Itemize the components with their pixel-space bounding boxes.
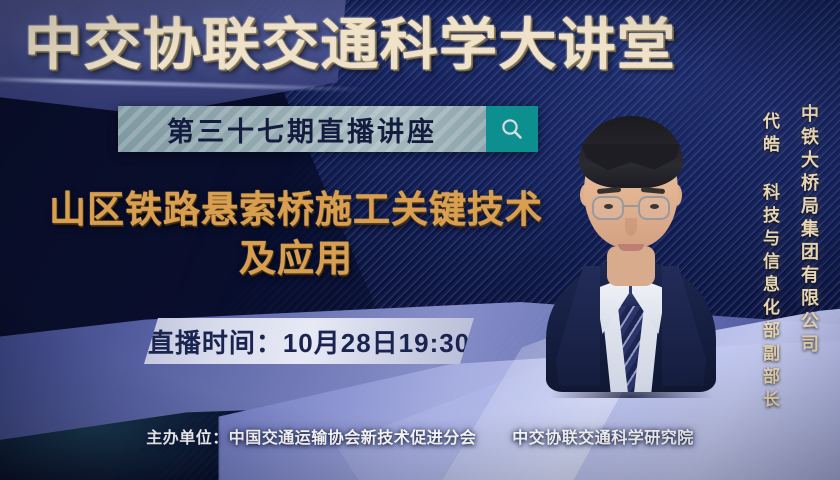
broadcast-time-plate: 直播时间：10月28日19:30 bbox=[144, 318, 474, 364]
webinar-poster: 中交协联交通科学大讲堂 第三十七期直播讲座 山区铁路悬索桥施工关键技术 及应用 … bbox=[0, 0, 840, 480]
portrait-neck bbox=[607, 246, 655, 286]
organizer-primary: 主办单位：中国交通运输协会新技术促进分会 bbox=[146, 430, 476, 447]
broadcast-time-label: 直播时间：10月28日19:30 bbox=[148, 323, 470, 360]
portrait-nose bbox=[625, 218, 637, 236]
episode-banner: 第三十七期直播讲座 bbox=[118, 106, 538, 152]
search-icon bbox=[499, 116, 525, 142]
episode-label: 第三十七期直播讲座 bbox=[167, 110, 437, 149]
lecture-title: 山区铁路悬索桥施工关键技术 及应用 bbox=[36, 186, 556, 284]
organizer-footer: 主办单位：中国交通运输协会新技术促进分会 中交协联交通科学研究院 bbox=[0, 424, 840, 448]
page-title: 中交协联交通科学大讲堂 bbox=[0, 16, 714, 75]
portrait-glasses-right-lens bbox=[638, 196, 670, 220]
portrait-glasses-bridge bbox=[624, 205, 638, 207]
search-button[interactable] bbox=[486, 106, 538, 152]
episode-banner-body: 第三十七期直播讲座 bbox=[118, 106, 486, 152]
lecture-title-line1: 山区铁路悬索桥施工关键技术 bbox=[49, 189, 543, 230]
lecture-title-line2: 及应用 bbox=[36, 235, 556, 284]
organizer-secondary: 中交协联交通科学研究院 bbox=[512, 430, 694, 447]
portrait-glasses-left-lens bbox=[592, 196, 624, 220]
speaker-organization: 中铁大桥局集团有限公司 bbox=[796, 104, 822, 357]
speaker-name-role: 代皓 科技与信息化部副部长 bbox=[757, 112, 782, 413]
portrait-mouth bbox=[618, 244, 644, 251]
speaker-portrait bbox=[540, 92, 722, 392]
